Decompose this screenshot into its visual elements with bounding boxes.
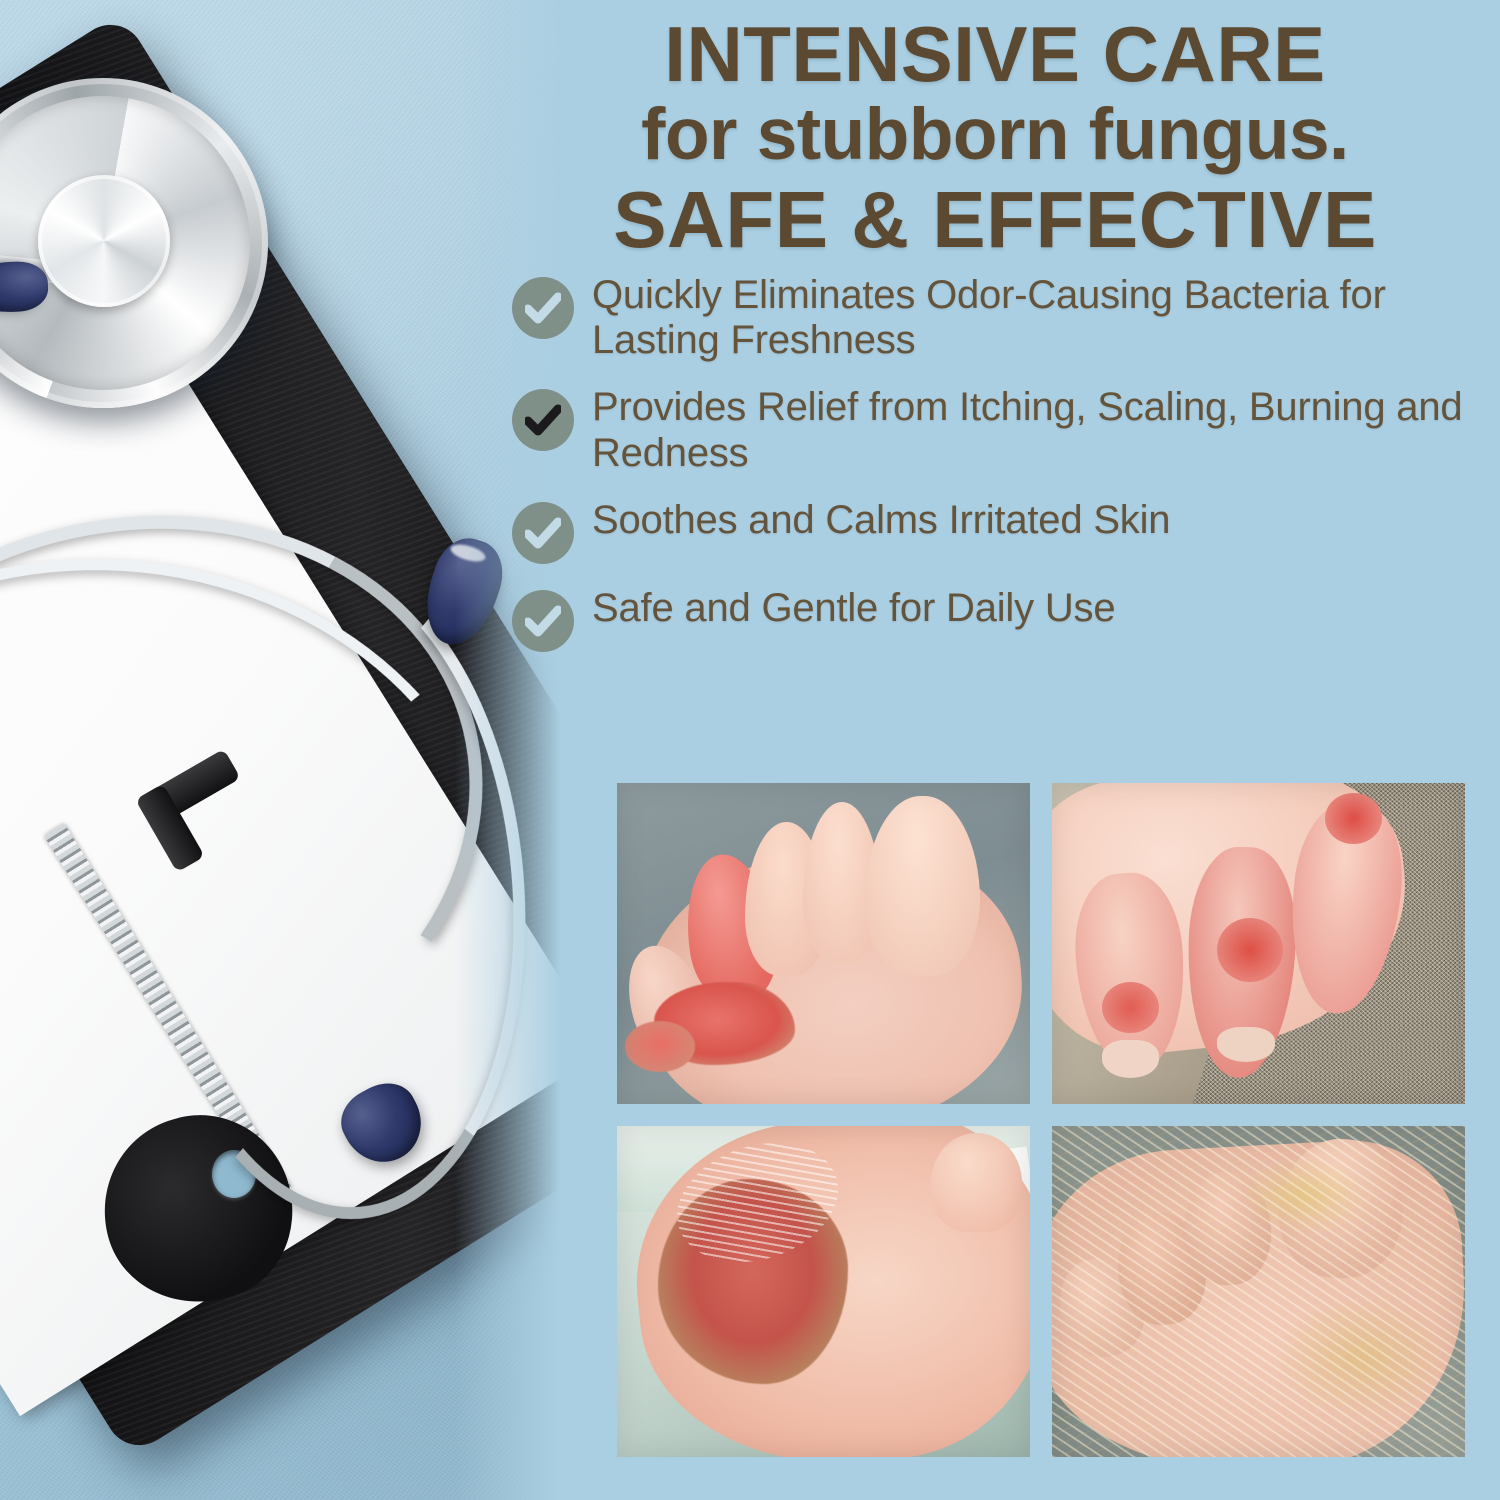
benefit-item-1: Quickly Eliminates Odor-Causing Bacteria… [512, 273, 1500, 363]
check-icon [512, 277, 574, 339]
benefit-text-2: Provides Relief from Itching, Scaling, B… [592, 385, 1472, 475]
condition-photo-sole-toes [617, 783, 1030, 1104]
benefit-item-4: Safe and Gentle for Daily Use [512, 586, 1500, 652]
toenail-middle [1217, 1027, 1275, 1062]
headline-line-1: INTENSIVE CARE [512, 0, 1478, 91]
condition-photo-toes-carpet [1052, 783, 1465, 1104]
redness-patch-3 [1325, 793, 1383, 844]
check-icon [512, 590, 574, 652]
stethoscope-chestpiece-hub [38, 175, 170, 307]
curled-toes [931, 1133, 1022, 1232]
toenail-left [1102, 1040, 1160, 1079]
toe-big [865, 796, 981, 976]
benefit-text-1: Quickly Eliminates Odor-Causing Bacteria… [592, 273, 1472, 363]
benefit-item-2: Provides Relief from Itching, Scaling, B… [512, 385, 1500, 475]
check-icon [512, 389, 574, 451]
benefit-text-4: Safe and Gentle for Daily Use [592, 586, 1115, 631]
headline-line-2: for stubborn fungus. [512, 91, 1478, 170]
condition-photo-scaly-toes [1052, 1126, 1465, 1457]
infographic-canvas: INTENSIVE CARE for stubborn fungus. SAFE… [0, 0, 1500, 1500]
condition-photo-grid [617, 783, 1453, 1457]
headline-block: INTENSIVE CARE for stubborn fungus. SAFE… [512, 0, 1500, 257]
benefit-item-3: Soothes and Calms Irritated Skin [512, 498, 1500, 564]
check-icon [512, 502, 574, 564]
scaling-texture [1052, 1126, 1465, 1457]
redness-patch-2 [1217, 918, 1283, 982]
benefits-list: Quickly Eliminates Odor-Causing Bacteria… [512, 273, 1500, 652]
content-column: INTENSIVE CARE for stubborn fungus. SAFE… [512, 0, 1500, 1500]
headline-line-3: SAFE & EFFECTIVE [512, 170, 1478, 257]
benefit-text-3: Soothes and Calms Irritated Skin [592, 498, 1170, 543]
lesion-area-small [625, 1021, 695, 1072]
stethoscope-clipboard-photo [0, 0, 575, 1500]
condition-photo-heel-scaling [617, 1126, 1030, 1457]
